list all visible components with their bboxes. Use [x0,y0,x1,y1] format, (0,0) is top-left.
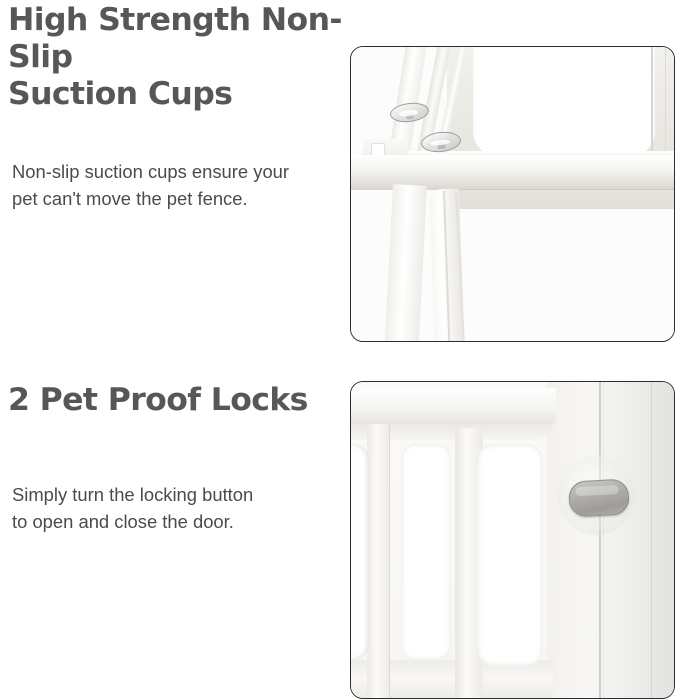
fence-window-opening [473,47,655,157]
feature-photo-pet-proof-lock [350,381,675,699]
fence-door-seam [599,382,601,698]
lock-knob-highlight [575,485,618,496]
fence-window-opening [401,444,451,660]
feature-heading-suction-cups: High Strength Non-Slip Suction Cups [8,2,343,113]
fence-vertical-post-left [367,424,389,698]
fence-window-opening [477,444,543,666]
infographic-page: High Strength Non-Slip Suction Cups Non-… [0,0,679,683]
photo-stage-lock [351,382,674,698]
locking-button-knob [568,478,630,517]
fence-window-opening [351,444,369,660]
feature-body-suction-cups: Non-slip suction cups ensure your pet ca… [12,158,342,212]
fence-door-seam-secondary [603,382,604,698]
fence-door-slab [547,382,674,698]
feature-photo-suction-cups [350,46,675,342]
photo-stage-suction [351,47,674,341]
fence-post-shadow-line [389,424,390,698]
feature-heading-pet-proof-locks: 2 Pet Proof Locks [8,382,343,419]
fence-top-rail [351,388,556,424]
fence-door-edge [651,382,652,698]
feature-body-pet-proof-locks: Simply turn the locking button to open a… [12,481,342,535]
